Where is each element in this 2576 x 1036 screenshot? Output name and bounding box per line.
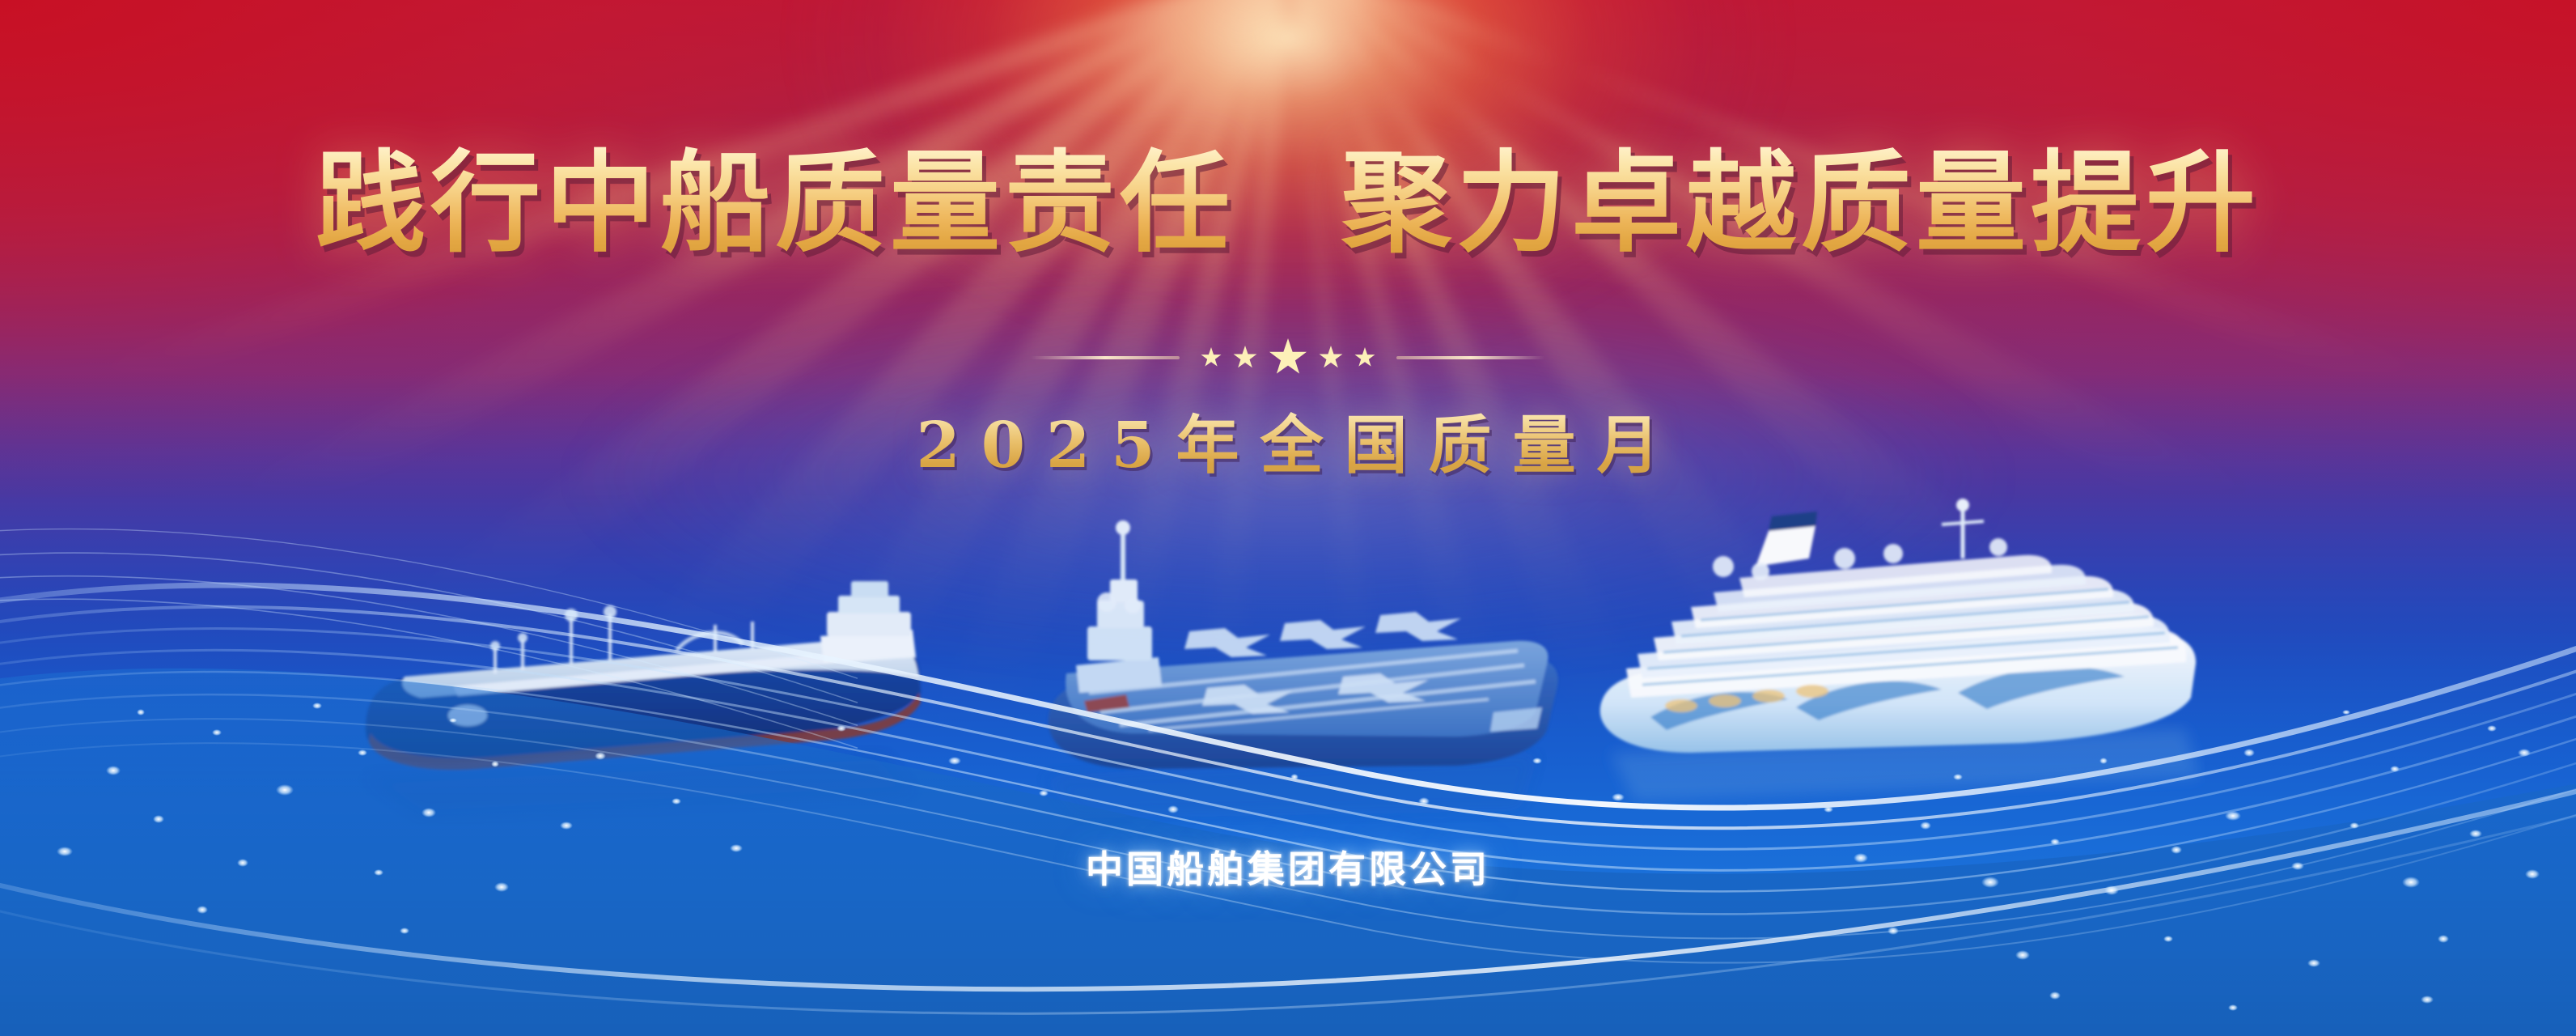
banner-content: 践行中船质量责任 聚力卓越质量提升 2025年全国质量月 中国船舶集团有限公司	[0, 0, 2576, 1036]
divider-rule-right	[1396, 356, 1545, 359]
star-icon	[1233, 346, 1257, 370]
star-icon	[1354, 347, 1375, 368]
headline-right: 聚力卓越质量提升	[1341, 142, 2260, 265]
quality-month-banner: 践行中船质量责任 聚力卓越质量提升 2025年全国质量月 中国船舶集团有限公司	[0, 0, 2576, 1036]
star-icon	[1319, 346, 1343, 370]
divider-rule-left	[1031, 356, 1180, 359]
headline: 践行中船质量责任 聚力卓越质量提升	[0, 142, 2576, 265]
company-name: 中国船舶集团有限公司	[0, 840, 2576, 894]
subtitle: 2025年全国质量月	[0, 395, 2576, 486]
star-icon	[1269, 338, 1307, 377]
divider	[0, 338, 2576, 377]
divider-stars	[1201, 338, 1375, 377]
headline-left: 践行中船质量责任	[316, 142, 1235, 265]
star-icon	[1201, 347, 1222, 368]
